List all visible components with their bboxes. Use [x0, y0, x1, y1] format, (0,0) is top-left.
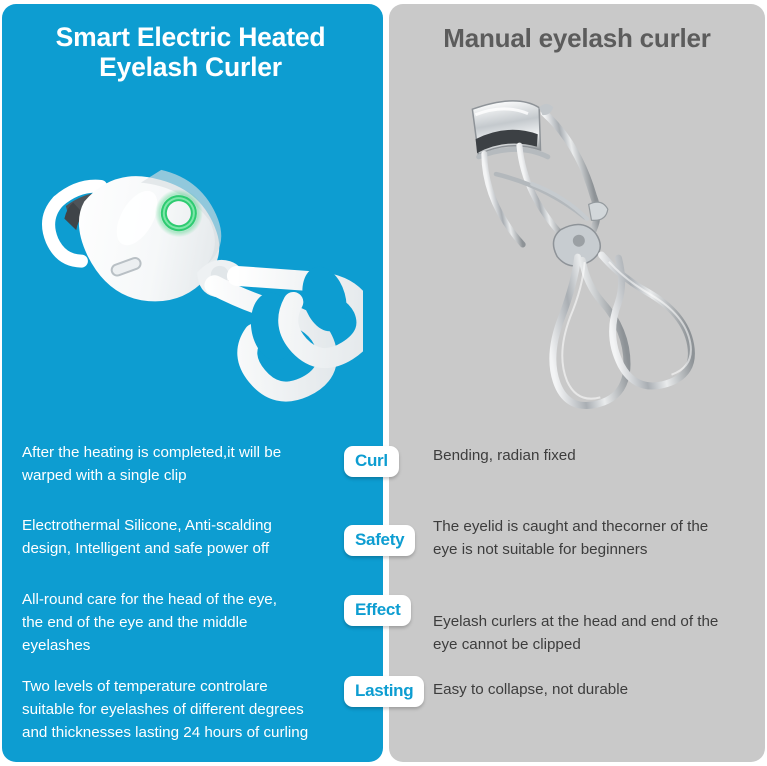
left-product-title: Smart Electric Heated Eyelash Curler	[0, 22, 381, 82]
comparison-infographic: Smart Electric Heated Eyelash Curler Man…	[0, 0, 767, 766]
manual-curler-image	[452, 78, 738, 414]
electric-curler-image	[28, 92, 363, 427]
right-product-title: Manual eyelash curler	[389, 24, 765, 54]
